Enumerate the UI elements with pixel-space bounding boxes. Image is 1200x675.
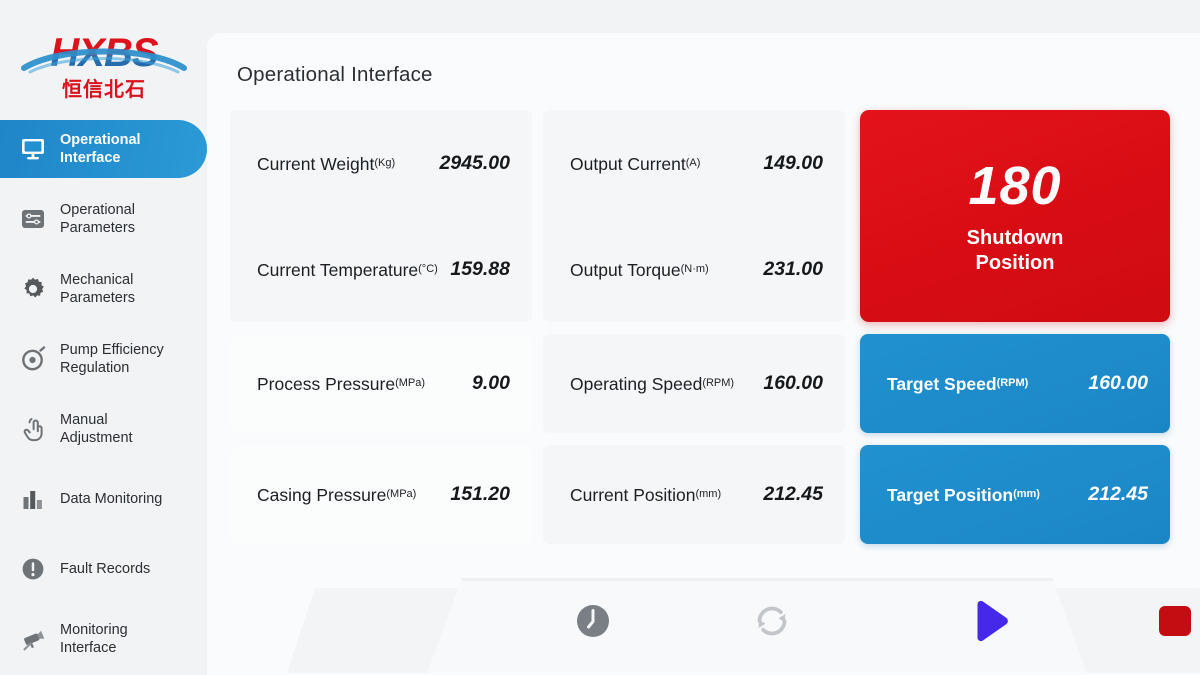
start-button[interactable]: [963, 592, 1021, 650]
hand-tap-icon: [18, 414, 48, 444]
target-value: 212.45: [1088, 483, 1148, 506]
sidebar-item-label: Fault Records: [60, 560, 150, 578]
metric-unit: (mm): [695, 488, 721, 500]
refresh-icon: [749, 598, 795, 644]
target-dial-icon: [18, 344, 48, 374]
metric-unit: (RPM): [702, 377, 734, 389]
stop-square-icon: [1155, 601, 1195, 641]
metric-row: Current Weight(Kg) 2945.00: [230, 110, 532, 216]
brand-logo-subtext: 恒信北石: [62, 77, 146, 101]
metric-row: Current Temperature(°C) 159.88: [230, 216, 532, 322]
target-label: Target Speed(RPM): [887, 372, 1088, 395]
brand-logo: HXBS 恒信北石: [0, 26, 207, 102]
metric-label: Current Temperature(°C): [257, 258, 450, 281]
metric-unit: (N·m): [681, 263, 709, 275]
metric-value: 2945.00: [440, 152, 511, 175]
page-title: Operational Interface: [237, 63, 433, 87]
target-speed-card[interactable]: Target Speed(RPM) 160.00: [860, 334, 1170, 433]
metric-row: Current Position(mm) 212.45: [543, 445, 845, 544]
metric-row: Process Pressure(MPa) 9.00: [230, 334, 532, 433]
metric-card: Current Position(mm) 212.45: [543, 445, 845, 544]
metric-label: Operating Speed(RPM): [570, 372, 763, 395]
metric-unit: (Kg): [374, 157, 395, 169]
target-value: 160.00: [1088, 372, 1148, 395]
metric-value: 231.00: [763, 258, 823, 281]
sidebar: HXBS 恒信北石 Operational Interface: [0, 0, 207, 675]
metric-label: Current Weight(Kg): [257, 152, 440, 175]
metric-unit: (MPa): [386, 488, 416, 500]
clock-icon: [573, 601, 613, 641]
metric-row: Casing Pressure(MPa) 151.20: [230, 445, 532, 544]
metric-label: Output Torque(N·m): [570, 258, 763, 281]
sidebar-item-label: Operational Interface: [60, 131, 178, 167]
sidebar-item-operational-parameters[interactable]: Operational Parameters: [0, 190, 207, 248]
metric-label: Output Current(A): [570, 152, 763, 175]
monitor-icon: [18, 134, 48, 164]
alert-circle-icon: [18, 554, 48, 584]
metrics-grid: Current Weight(Kg) 2945.00 Current Tempe…: [230, 110, 1185, 560]
sidebar-item-manual-adjustment[interactable]: Manual Adjustment: [0, 400, 207, 458]
metric-value: 149.00: [763, 152, 823, 175]
sidebar-item-label: Pump Efficiency Regulation: [60, 341, 178, 377]
play-icon: [966, 595, 1018, 647]
reset-button[interactable]: [743, 592, 801, 650]
gear-icon: [18, 274, 48, 304]
sidebar-item-label: Mechanical Parameters: [60, 271, 178, 307]
timer-button[interactable]: [564, 592, 622, 650]
metric-row: Operating Speed(RPM) 160.00: [543, 334, 845, 433]
sidebar-item-label: Monitoring Interface: [60, 621, 178, 657]
main-panel: Operational Interface Current Weight(Kg)…: [207, 33, 1200, 675]
target-label: Target Position(mm): [887, 483, 1088, 506]
metric-value: 151.20: [450, 483, 510, 506]
target-position-card[interactable]: Target Position(mm) 212.45: [860, 445, 1170, 544]
metric-unit: (°C): [418, 263, 438, 275]
metric-label: Current Position(mm): [570, 483, 763, 506]
sidebar-item-monitoring-interface[interactable]: Monitoring Interface: [0, 610, 207, 668]
sidebar-item-pump-efficiency-regulation[interactable]: Pump Efficiency Regulation: [0, 330, 207, 388]
sidebar-item-label: Manual Adjustment: [60, 411, 178, 447]
sidebar-item-operational-interface[interactable]: Operational Interface: [0, 120, 207, 178]
metric-unit: (A): [686, 157, 701, 169]
metric-card: Operating Speed(RPM) 160.00: [543, 334, 845, 433]
sidebar-nav: Operational Interface Operational Parame…: [0, 120, 207, 675]
sidebar-item-label: Operational Parameters: [60, 201, 178, 237]
metric-card: Process Pressure(MPa) 9.00: [230, 334, 532, 433]
hxbs-logo-icon: HXBS 恒信北石: [20, 26, 188, 102]
sidebar-item-data-monitoring[interactable]: Data Monitoring: [0, 470, 207, 528]
status-column: 180 Shutdown Position Target Speed(RPM) …: [860, 110, 1170, 544]
metric-value: 160.00: [763, 372, 823, 395]
metrics-column-1: Current Weight(Kg) 2945.00 Current Tempe…: [230, 110, 532, 544]
bar-chart-icon: [18, 484, 48, 514]
control-toolbar: [287, 570, 1127, 675]
sidebar-item-mechanical-parameters[interactable]: Mechanical Parameters: [0, 260, 207, 318]
metric-unit: (MPa): [395, 377, 425, 389]
sliders-icon: [18, 204, 48, 234]
metric-card: Current Weight(Kg) 2945.00 Current Tempe…: [230, 110, 532, 322]
stop-button[interactable]: [1146, 592, 1200, 650]
cctv-camera-icon: [18, 624, 48, 654]
sidebar-item-label: Data Monitoring: [60, 490, 162, 508]
metric-label: Casing Pressure(MPa): [257, 483, 450, 506]
sidebar-item-fault-records[interactable]: Fault Records: [0, 540, 207, 598]
shutdown-position-card[interactable]: 180 Shutdown Position: [860, 110, 1170, 322]
metric-label: Process Pressure(MPa): [257, 372, 472, 395]
metrics-column-2: Output Current(A) 149.00 Output Torque(N…: [543, 110, 845, 544]
shutdown-position-label: Shutdown Position: [967, 226, 1064, 276]
target-unit: (mm): [1013, 488, 1040, 500]
metric-card: Output Current(A) 149.00 Output Torque(N…: [543, 110, 845, 322]
metric-row: Output Torque(N·m) 231.00: [543, 216, 845, 322]
metric-value: 9.00: [472, 372, 510, 395]
shutdown-position-value: 180: [968, 157, 1061, 215]
metric-value: 159.88: [450, 258, 510, 281]
metric-value: 212.45: [763, 483, 823, 506]
metric-card: Casing Pressure(MPa) 151.20: [230, 445, 532, 544]
target-unit: (RPM): [997, 377, 1029, 389]
metric-row: Output Current(A) 149.00: [543, 110, 845, 216]
